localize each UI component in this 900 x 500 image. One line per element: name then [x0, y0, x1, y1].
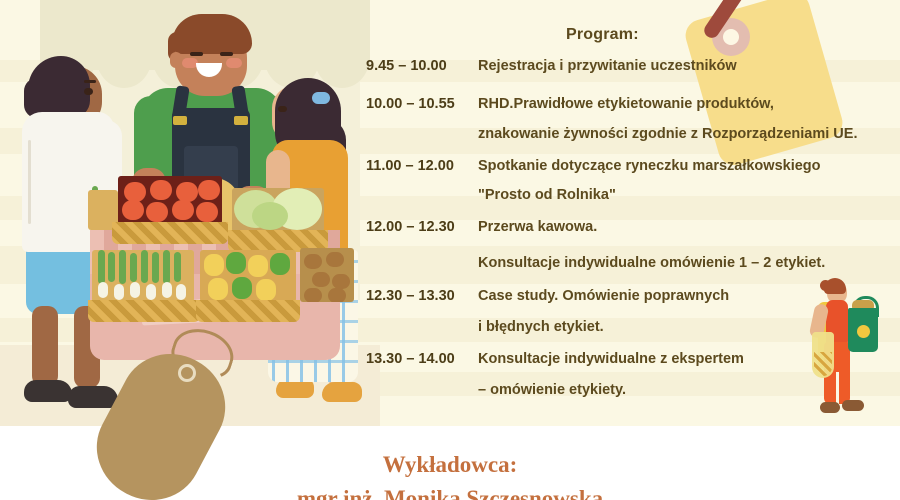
schedule-description: Rejestracja i przywitanie uczestników: [478, 58, 737, 74]
lecturer-heading: Wykładowca:: [0, 452, 900, 478]
schedule-description: Konsultacje indywidualne omówienie 1 – 2…: [478, 255, 825, 271]
vendor-ear: [170, 52, 182, 68]
potato-crate: [300, 248, 354, 302]
tote-bag-logo-icon: [857, 325, 870, 338]
customer-hair: [28, 56, 90, 118]
customer-shirt-fold: [28, 140, 31, 224]
vendor-eye-right: [220, 52, 233, 56]
vendor-cheek-right: [226, 58, 242, 68]
pepper-crate: [200, 250, 296, 302]
tag-grommet-icon: [178, 364, 196, 382]
mesh-bag-pattern: [814, 352, 832, 376]
schedule-description: RHD.Prawidłowe etykietowanie produktów,: [478, 96, 774, 112]
shopper-leg-split: [836, 372, 839, 404]
shopper-hair: [824, 278, 846, 294]
customer-shoe-left: [24, 380, 72, 402]
tomato-crate: [118, 176, 222, 224]
schedule-description: Przerwa kawowa.: [478, 219, 597, 235]
vendor-buckle-left: [173, 116, 187, 125]
schedule-description: – omówienie etykiety.: [478, 382, 626, 398]
lecturer-name: mgr inż. Monika Szczęsnowska: [0, 486, 900, 500]
schedule-description: Konsultacje indywidualne z ekspertem: [478, 351, 744, 367]
farmers-market-illustration: [0, 0, 380, 426]
woman-shoe-right: [322, 382, 362, 402]
woman-eye: [278, 106, 287, 112]
spring-onion-crate: [92, 250, 194, 302]
customer-shoe-right: [68, 386, 118, 408]
customer-brow: [84, 80, 96, 83]
schedule-time: 12.30 – 13.30: [366, 288, 466, 304]
schedule-time: 10.00 – 10.55: [366, 96, 466, 112]
schedule-time: 12.00 – 12.30: [366, 219, 466, 235]
shopper-shoe-left: [820, 402, 840, 413]
schedule-description: i błędnych etykiet.: [478, 319, 604, 335]
customer-leg-left: [32, 306, 58, 386]
schedule-description: Spotkanie dotyczące ryneczku marszałkows…: [478, 158, 821, 174]
vendor-buckle-right: [234, 116, 248, 125]
poster-canvas: Program: 9.45 – 10.00Rejestracja i przyw…: [0, 0, 900, 500]
schedule-time: 9.45 – 10.00: [366, 58, 466, 74]
shopper-shoe-right: [842, 400, 864, 411]
customer-eye: [84, 88, 93, 95]
program-title: Program:: [566, 26, 639, 44]
cabbage-crate: [232, 188, 324, 232]
schedule-description: Case study. Omówienie poprawnych: [478, 288, 729, 304]
schedule-description: znakowanie żywności zgodnie z Rozporządz…: [478, 126, 857, 142]
vendor-hair: [172, 14, 252, 54]
schedule-time: 13.30 – 14.00: [366, 351, 466, 367]
tag-grommet-inner-icon: [723, 29, 739, 45]
woman-hair-tie: [312, 92, 330, 104]
schedule-time: 11.00 – 12.00: [366, 158, 466, 174]
onion-basket: [88, 300, 200, 322]
pepper-basket: [196, 300, 300, 322]
schedule-description: "Prosto od Rolnika": [478, 187, 616, 203]
tomato-basket: [112, 222, 228, 244]
vendor-eye-left: [190, 52, 203, 56]
